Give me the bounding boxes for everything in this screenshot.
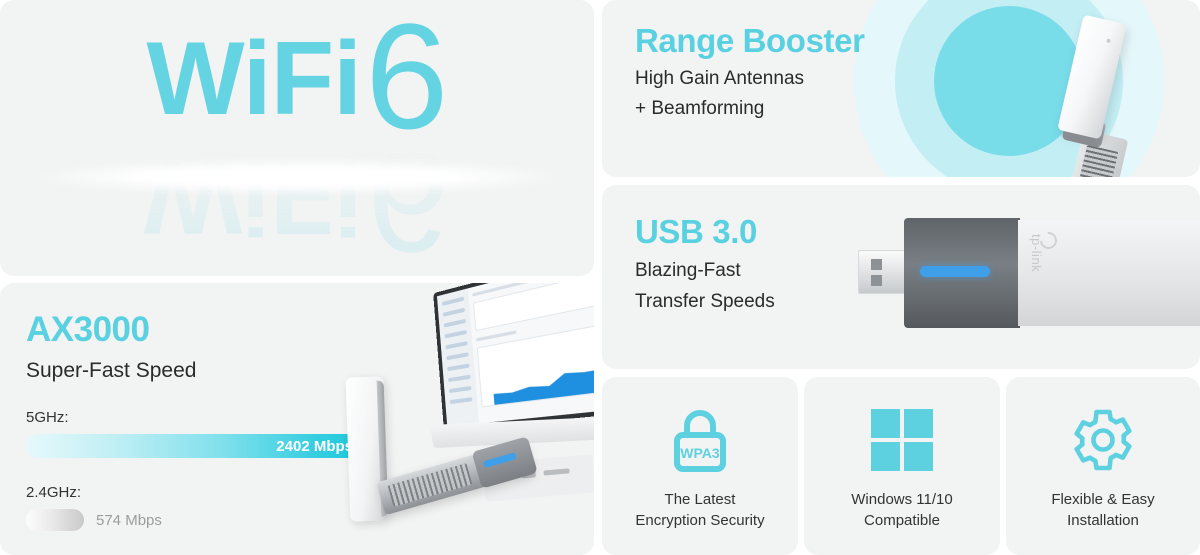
adapter-vents: [388, 463, 473, 507]
adapter-arm: [376, 441, 531, 516]
range-booster-content: Range Booster High Gain Antennas + Beamf…: [635, 22, 865, 120]
range-booster-title: Range Booster: [635, 22, 865, 60]
band-24ghz-row: 574 Mbps: [26, 509, 366, 531]
gear-icon: [1068, 401, 1138, 479]
usb-connector: [858, 250, 910, 294]
product-feature-infographic: WiFi 6 WiFi 6 AX3000 Super-Fast Speed 5G…: [0, 0, 1200, 555]
range-booster-line1: High Gain Antennas: [635, 68, 865, 90]
windows-pane-tr: [904, 409, 933, 438]
wifi6-number-reflection: 6: [367, 125, 450, 275]
range-booster-line2: + Beamforming: [635, 98, 865, 120]
range-adapter-vents: [1078, 145, 1119, 177]
feature-caption-line2: Encryption Security: [635, 510, 764, 531]
usb-adapter-photo: tp-link: [858, 218, 1200, 330]
range-booster-panel: Range Booster High Gain Antennas + Beamf…: [602, 0, 1200, 177]
usb-adapter-shell: tp-link: [1018, 220, 1200, 326]
windows-pane-bl: [871, 442, 900, 471]
feature-card-installation: Flexible & Easy Installation: [1006, 377, 1200, 555]
feature-card-encryption-caption: The Latest Encryption Security: [635, 489, 764, 532]
feature-caption-line2: Compatible: [851, 510, 952, 531]
tp-link-brand-text: tp-link: [1029, 234, 1044, 272]
windows-pane-br: [904, 442, 933, 471]
laptop-screen: [433, 283, 594, 431]
windows-logo-icon: [871, 401, 933, 479]
feature-card-installation-caption: Flexible & Easy Installation: [1051, 489, 1154, 532]
wifi6-logo: WiFi 6: [147, 0, 448, 137]
usb30-title: USB 3.0: [635, 213, 775, 251]
feature-caption-line1: The Latest: [635, 489, 764, 510]
wifi6-hero-panel: WiFi 6 WiFi 6: [0, 0, 594, 276]
feature-caption-line2: Installation: [1051, 510, 1154, 531]
feature-caption-line1: Flexible & Easy: [1051, 489, 1154, 510]
ax3000-content: AX3000 Super-Fast Speed 5GHz: 2402 Mbps …: [26, 310, 366, 531]
band-5ghz-bar: 2402 Mbps: [26, 434, 366, 458]
usb30-content: USB 3.0 Blazing-Fast Transfer Speeds: [635, 213, 775, 313]
feature-card-encryption: WPA3 The Latest Encryption Security: [602, 377, 798, 555]
reflection-glow: [30, 160, 564, 194]
windows-logo-panes: [871, 409, 933, 471]
usb30-line1: Blazing-Fast: [635, 260, 775, 282]
ax3000-subtitle: Super-Fast Speed: [26, 359, 366, 383]
usb30-panel: USB 3.0 Blazing-Fast Transfer Speeds tp-…: [602, 185, 1200, 369]
band-5ghz-label: 5GHz:: [26, 409, 366, 426]
svg-text:WPA3: WPA3: [680, 445, 720, 461]
windows-pane-tl: [871, 409, 900, 438]
feature-card-windows-caption: Windows 11/10 Compatible: [851, 489, 952, 532]
band-24ghz-bar: [26, 509, 84, 531]
usb-led-indicator: [920, 266, 990, 277]
feature-card-windows: Windows 11/10 Compatible: [804, 377, 1000, 555]
range-adapter-led-dot: [1106, 38, 1111, 43]
wifi6-number: 6: [365, 1, 447, 151]
usb30-line2: Transfer Speeds: [635, 291, 775, 313]
ax3000-title: AX3000: [26, 310, 366, 350]
laptop-with-adapter-photo: [334, 283, 594, 555]
band-24ghz-value: 574 Mbps: [96, 512, 162, 529]
ax3000-speed-panel: AX3000 Super-Fast Speed 5GHz: 2402 Mbps …: [0, 283, 594, 555]
padlock-wpa3-icon: WPA3: [669, 401, 731, 479]
wifi6-logo-group: WiFi 6 WiFi 6: [0, 0, 594, 276]
wifi6-word: WiFi: [147, 27, 362, 131]
signal-ring-inner: [934, 6, 1084, 156]
feature-caption-line1: Windows 11/10: [851, 489, 952, 510]
band-24ghz-label: 2.4GHz:: [26, 484, 366, 501]
usb-adapter-body: [904, 218, 1020, 328]
laptop-screen-dashboard: [472, 283, 594, 418]
